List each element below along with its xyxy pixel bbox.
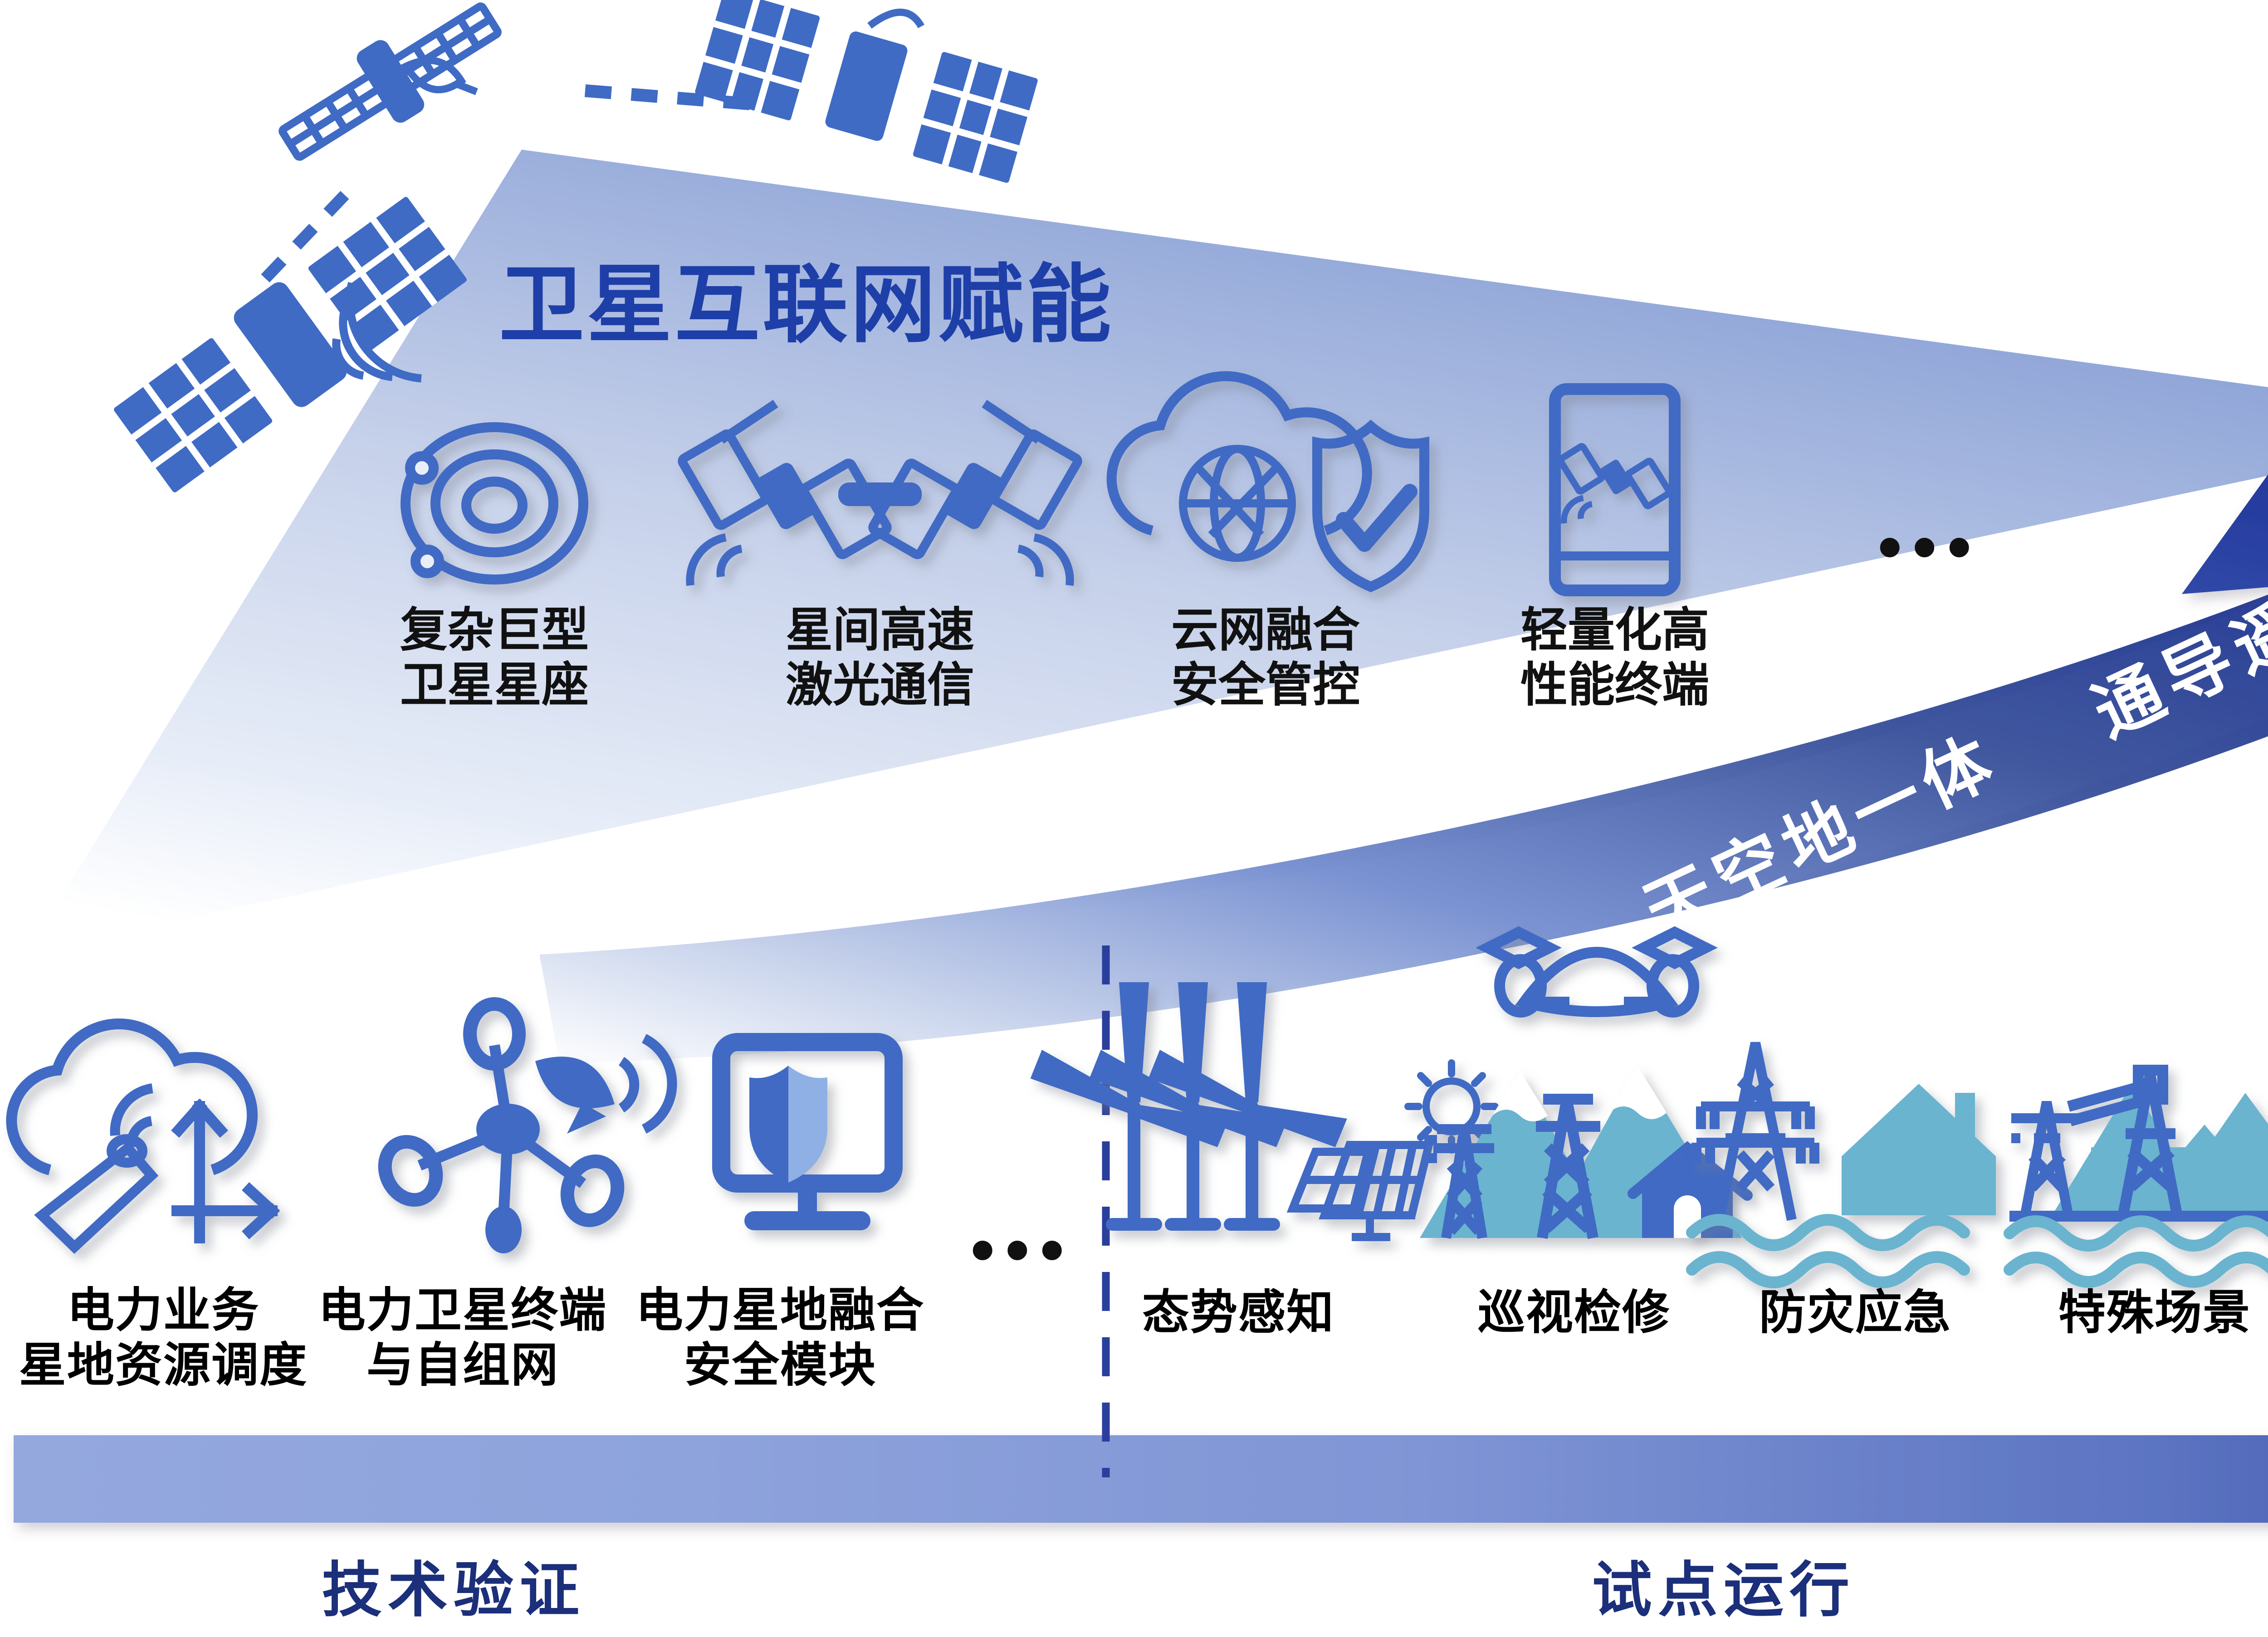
application-icon-layer: [0, 0, 2268, 1637]
infographic-canvas: 卫星互联网赋能 复杂巨型 卫星星座 星间高速 激光通信 云网融合 安全管控 轻量…: [0, 0, 2268, 1637]
phase-label-1: 试点运行: [1474, 1542, 1973, 1628]
phase-label-0: 技术验证: [204, 1542, 703, 1628]
